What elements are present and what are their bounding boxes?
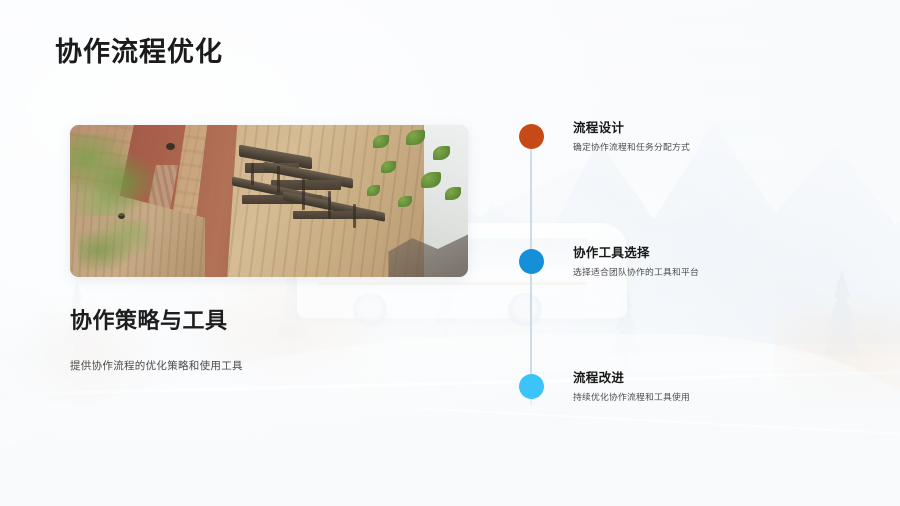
timeline-item-description: 选择适合团队协作的工具和平台 <box>573 266 863 278</box>
timeline-item-title: 流程改进 <box>573 370 863 387</box>
photo-leaf <box>367 185 380 196</box>
timeline-item-1[interactable]: 流程设计 确定协作流程和任务分配方式 <box>505 110 865 168</box>
timeline: 流程设计 确定协作流程和任务分配方式 协作工具选择 选择适合团队协作的工具和平台… <box>505 110 865 420</box>
photo-wall-opening <box>166 143 175 150</box>
photo-temple-beam <box>302 179 305 209</box>
photo-vegetation <box>70 134 158 216</box>
photo-leaf <box>373 135 389 148</box>
timeline-dot-icon <box>519 249 544 274</box>
photo-leaf <box>381 161 396 173</box>
photo-leaf <box>398 196 412 207</box>
timeline-item-text: 流程改进 持续优化协作流程和工具使用 <box>573 370 863 403</box>
timeline-item-title: 流程设计 <box>573 120 863 137</box>
timeline-dot-icon <box>519 374 544 399</box>
timeline-item-description: 确定协作流程和任务分配方式 <box>573 141 863 153</box>
timeline-item-description: 持续优化协作流程和工具使用 <box>573 391 863 403</box>
timeline-item-text: 流程设计 确定协作流程和任务分配方式 <box>573 120 863 153</box>
timeline-dot-icon <box>519 124 544 149</box>
photo-leaf <box>433 146 450 160</box>
timeline-item-2[interactable]: 协作工具选择 选择适合团队协作的工具和平台 <box>505 235 865 293</box>
timeline-item-3[interactable]: 流程改进 持续优化协作流程和工具使用 <box>505 360 865 418</box>
slide-content: 协作流程优化 <box>0 0 900 506</box>
photo-temple-beam <box>353 204 356 229</box>
photo-temple-beam <box>277 166 280 192</box>
left-column <box>70 125 468 277</box>
timeline-item-title: 协作工具选择 <box>573 245 863 262</box>
section-subtitle: 提供协作流程的优化策略和使用工具 <box>70 358 243 373</box>
photo-temple-beam <box>328 191 331 219</box>
photo-leaf <box>445 187 461 200</box>
slide-root: 协作流程优化 <box>0 0 900 506</box>
photo-leaf <box>421 172 441 188</box>
photo-tree-leaves <box>361 128 464 237</box>
hanging-temple-photo <box>70 125 468 277</box>
page-title: 协作流程优化 <box>55 36 223 68</box>
photo-vegetation <box>78 219 150 271</box>
section-heading: 协作策略与工具 <box>70 303 228 335</box>
timeline-item-text: 协作工具选择 选择适合团队协作的工具和平台 <box>573 245 863 278</box>
photo-leaf <box>406 130 425 145</box>
